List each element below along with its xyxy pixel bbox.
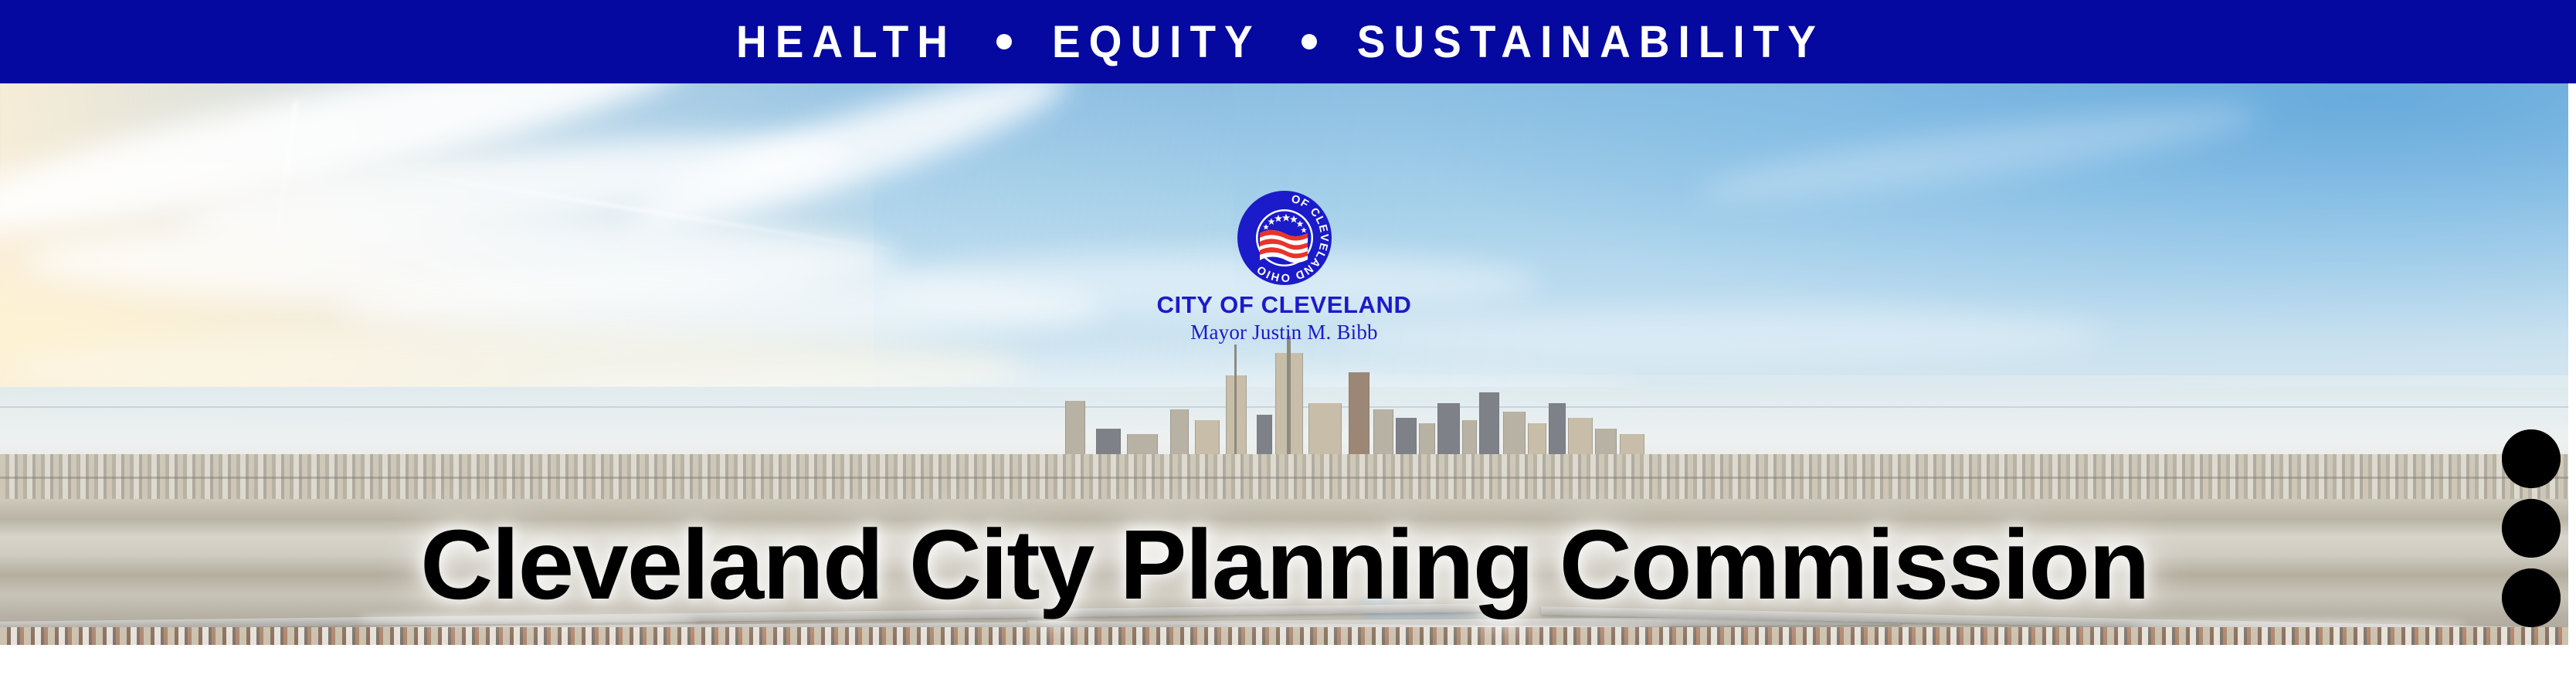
foreground-valley bbox=[0, 499, 2568, 645]
instagram-icon bbox=[2502, 499, 2561, 558]
tagline-item-health: HEALTH bbox=[736, 19, 956, 64]
tagline-item-sustainability: SUSTAINABILITY bbox=[1357, 19, 1824, 64]
facebook-icon bbox=[2502, 568, 2561, 627]
city-brand-lockup: CITY OF CLEVELAND OHIO bbox=[1084, 190, 1485, 343]
page-root: HEALTH EQUITY SUSTAINABILITY bbox=[0, 0, 2576, 682]
tagline-item-equity: EQUITY bbox=[1052, 19, 1261, 64]
social-link-youtube[interactable] bbox=[2502, 429, 2561, 488]
city-of-cleveland-seal-icon: CITY OF CLEVELAND OHIO bbox=[1237, 190, 1332, 286]
brand-mayor-name: Mayor Justin M. Bibb bbox=[1084, 321, 1485, 343]
bullet-dot-icon bbox=[996, 34, 1012, 49]
social-link-facebook[interactable] bbox=[2502, 568, 2561, 627]
social-link-instagram[interactable] bbox=[2502, 499, 2561, 558]
tagline-list: HEALTH EQUITY SUSTAINABILITY bbox=[736, 21, 1824, 63]
youtube-icon bbox=[2502, 429, 2561, 488]
social-links bbox=[2502, 429, 2562, 627]
snow-patch bbox=[360, 616, 694, 623]
urban-horizon bbox=[0, 477, 2568, 479]
neighborhood-rooftops bbox=[0, 627, 2568, 645]
bullet-dot-icon bbox=[1302, 34, 1317, 49]
tagline-banner: HEALTH EQUITY SUSTAINABILITY bbox=[0, 0, 2576, 83]
hero-photo: CITY OF CLEVELAND OHIO bbox=[0, 83, 2568, 645]
brand-city-name: CITY OF CLEVELAND bbox=[1084, 293, 1485, 318]
